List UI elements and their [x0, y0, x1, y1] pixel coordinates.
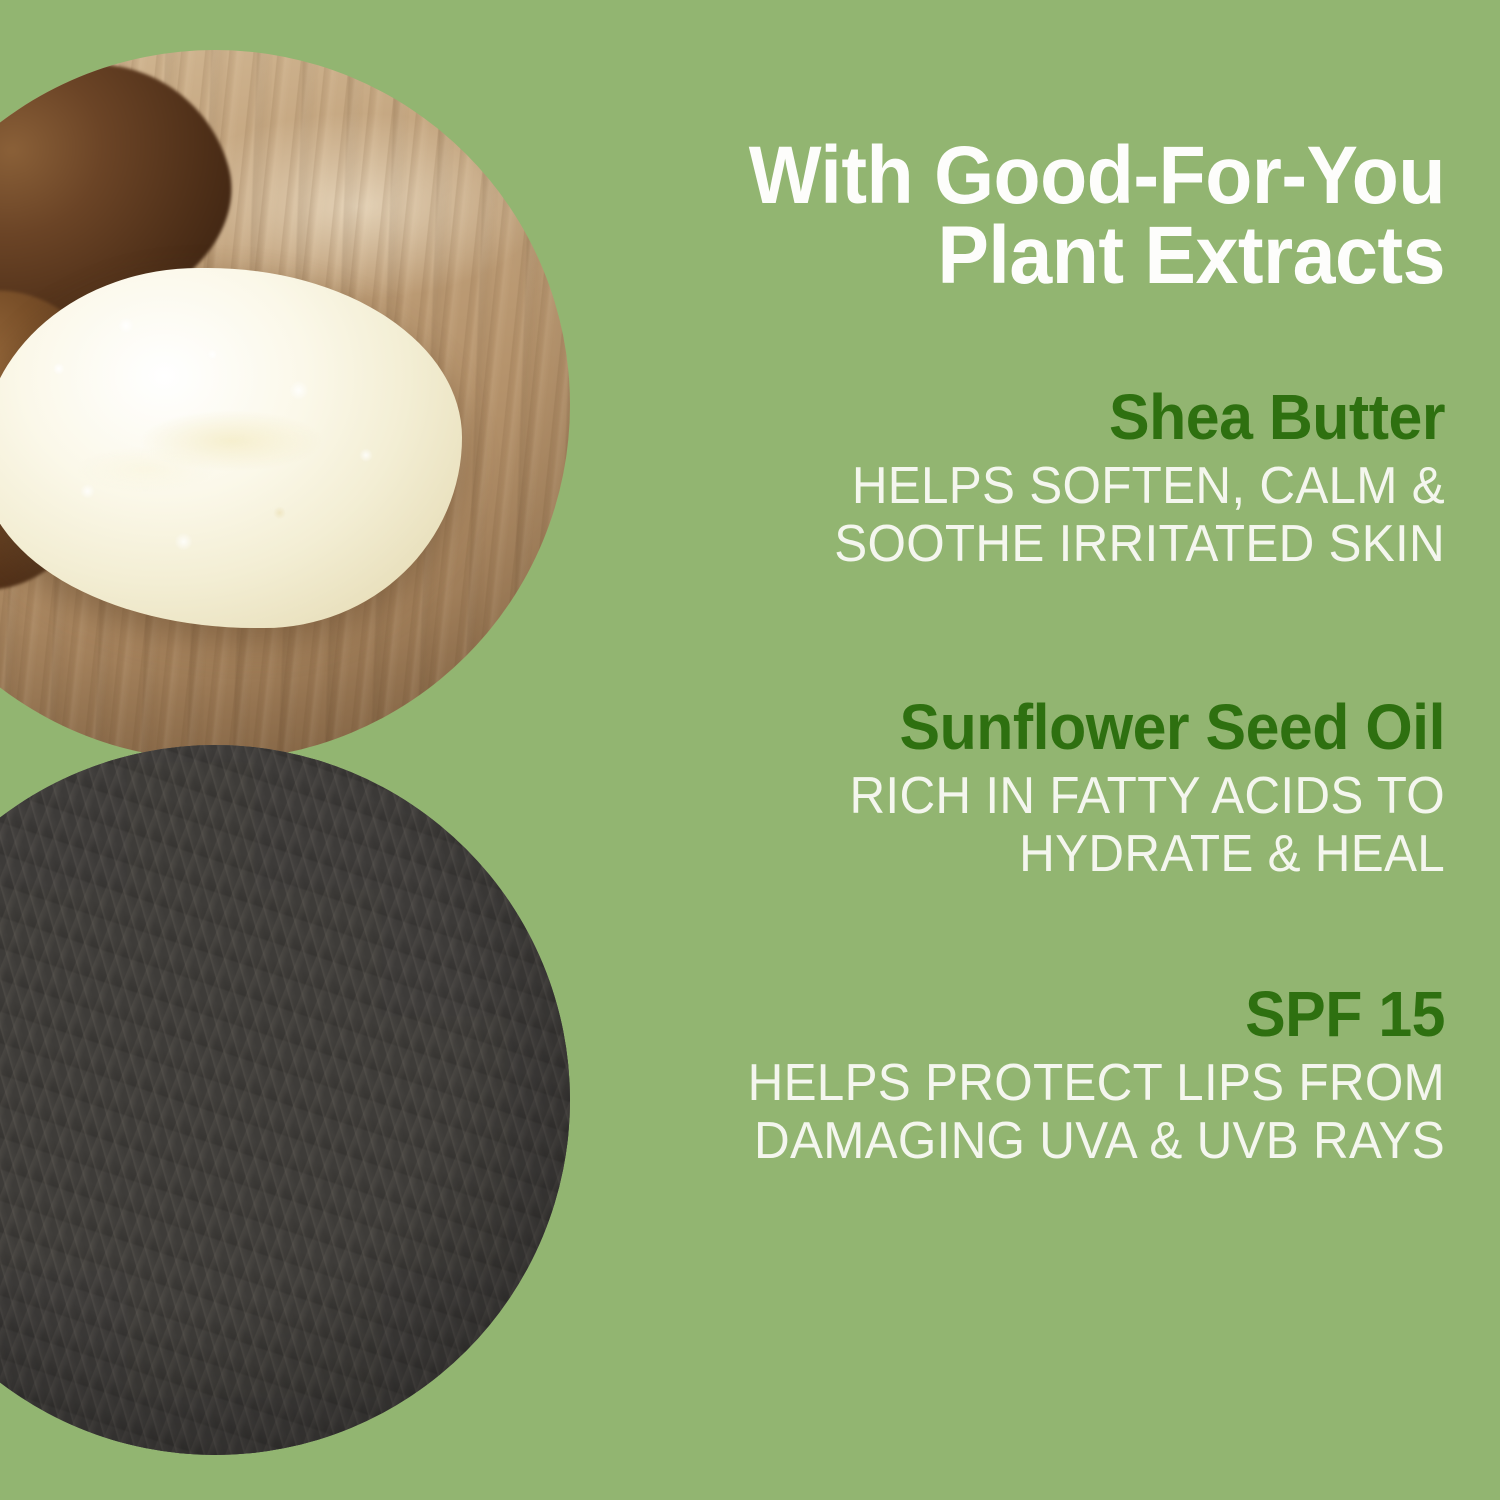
shea-butter-image [0, 50, 570, 760]
ingredient-name: SPF 15 [604, 982, 1445, 1046]
sunflower-seeds-image [0, 745, 570, 1455]
product-infographic: With Good-For-You Plant Extracts Shea Bu… [0, 0, 1500, 1500]
ingredient-description: HELPS PROTECT LIPS FROM DAMAGING UVA & U… [604, 1054, 1445, 1170]
ingredient-description: RICH IN FATTY ACIDS TO HYDRATE & HEAL [604, 767, 1445, 883]
ingredient-block-shea-butter: Shea Butter HELPS SOFTEN, CALM & SOOTHE … [560, 385, 1445, 573]
ingredient-block-sunflower-seed-oil: Sunflower Seed Oil RICH IN FATTY ACIDS T… [560, 695, 1445, 883]
ingredient-description: HELPS SOFTEN, CALM & SOOTHE IRRITATED SK… [604, 457, 1445, 573]
page-title: With Good-For-You Plant Extracts [613, 136, 1445, 297]
ingredient-name: Shea Butter [604, 385, 1445, 449]
text-column: With Good-For-You Plant Extracts Shea Bu… [560, 0, 1445, 1500]
ingredient-name: Sunflower Seed Oil [604, 695, 1445, 759]
ingredient-block-spf-15: SPF 15 HELPS PROTECT LIPS FROM DAMAGING … [560, 982, 1445, 1170]
